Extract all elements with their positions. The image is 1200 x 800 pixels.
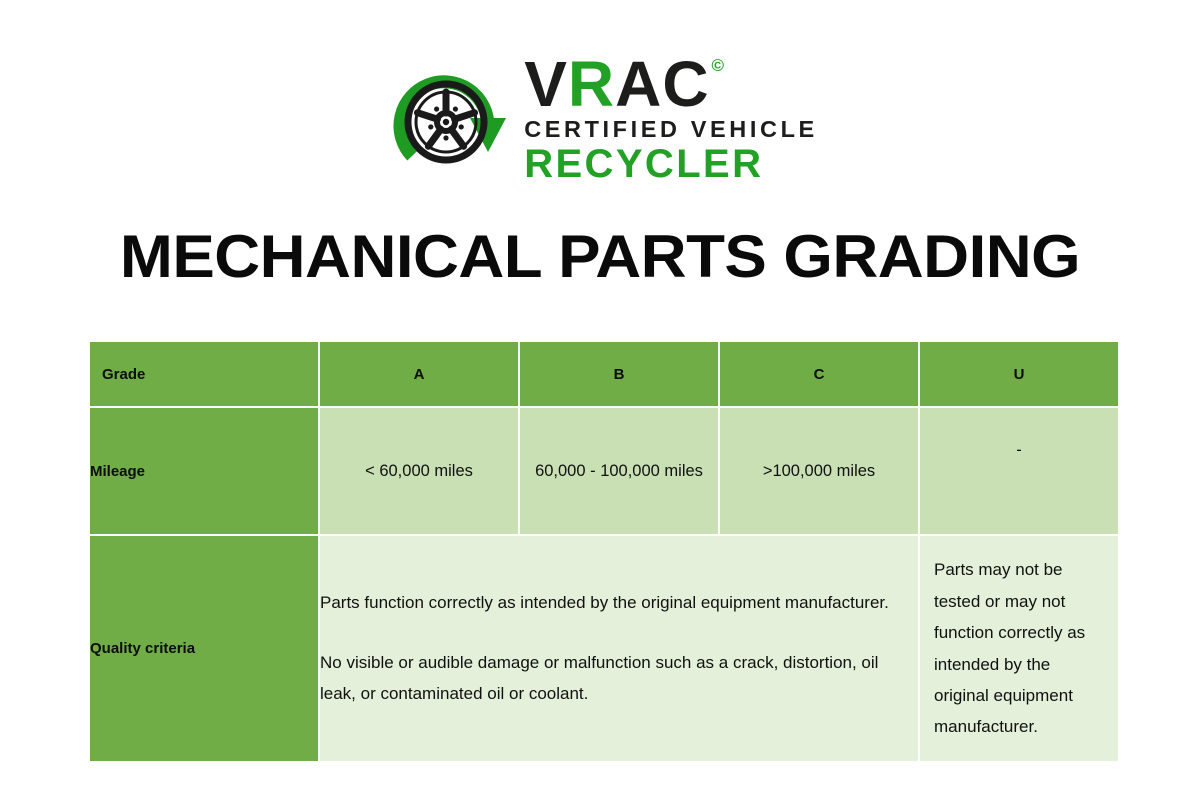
- brand-letter-v: V: [524, 54, 568, 115]
- criteria-paragraph-1: Parts function correctly as intended by …: [320, 587, 918, 618]
- criteria-paragraph-2: No visible or audible damage or malfunct…: [320, 647, 918, 710]
- cell-mileage-b: 60,000 - 100,000 miles: [520, 408, 718, 534]
- cell-mileage-u: -: [920, 408, 1118, 534]
- copyright-icon: ©: [712, 58, 726, 74]
- row-label-mileage: Mileage: [90, 408, 318, 534]
- logo-tagline: CERTIFIED VEHICLE: [524, 118, 818, 142]
- grading-table: Grade A B C U Mileage < 60,000 miles 60,…: [88, 340, 1120, 763]
- table-row-quality-criteria: Quality criteria Parts function correctl…: [90, 536, 1118, 761]
- recycling-wheel-icon: [382, 52, 514, 184]
- brand-letters-ac: AC: [615, 54, 709, 115]
- header-cell-grade-a: A: [320, 342, 518, 406]
- brand-logo: V R AC © CERTIFIED VEHICLE RECYCLER: [0, 52, 1200, 184]
- row-label-quality-criteria: Quality criteria: [90, 536, 318, 761]
- header-cell-grade-b: B: [520, 342, 718, 406]
- cell-quality-criteria-abc: Parts function correctly as intended by …: [320, 536, 918, 761]
- header-cell-grade: Grade: [90, 342, 318, 406]
- cell-quality-criteria-u: Parts may not be tested or may not funct…: [920, 536, 1118, 761]
- logo-inner: V R AC © CERTIFIED VEHICLE RECYCLER: [382, 52, 818, 184]
- cell-mileage-a: < 60,000 miles: [320, 408, 518, 534]
- brand-letter-r: R: [568, 54, 615, 115]
- logo-wordmark: V R AC © CERTIFIED VEHICLE RECYCLER: [524, 52, 818, 183]
- header-cell-grade-u: U: [920, 342, 1118, 406]
- header-cell-grade-c: C: [720, 342, 918, 406]
- logo-recycler-word: RECYCLER: [524, 144, 763, 184]
- page-title: MECHANICAL PARTS GRADING: [0, 222, 1200, 291]
- brand-name-vrac: V R AC ©: [524, 54, 725, 115]
- table-row-mileage: Mileage < 60,000 miles 60,000 - 100,000 …: [90, 408, 1118, 534]
- cell-mileage-c: >100,000 miles: [720, 408, 918, 534]
- table-header-row: Grade A B C U: [90, 342, 1118, 406]
